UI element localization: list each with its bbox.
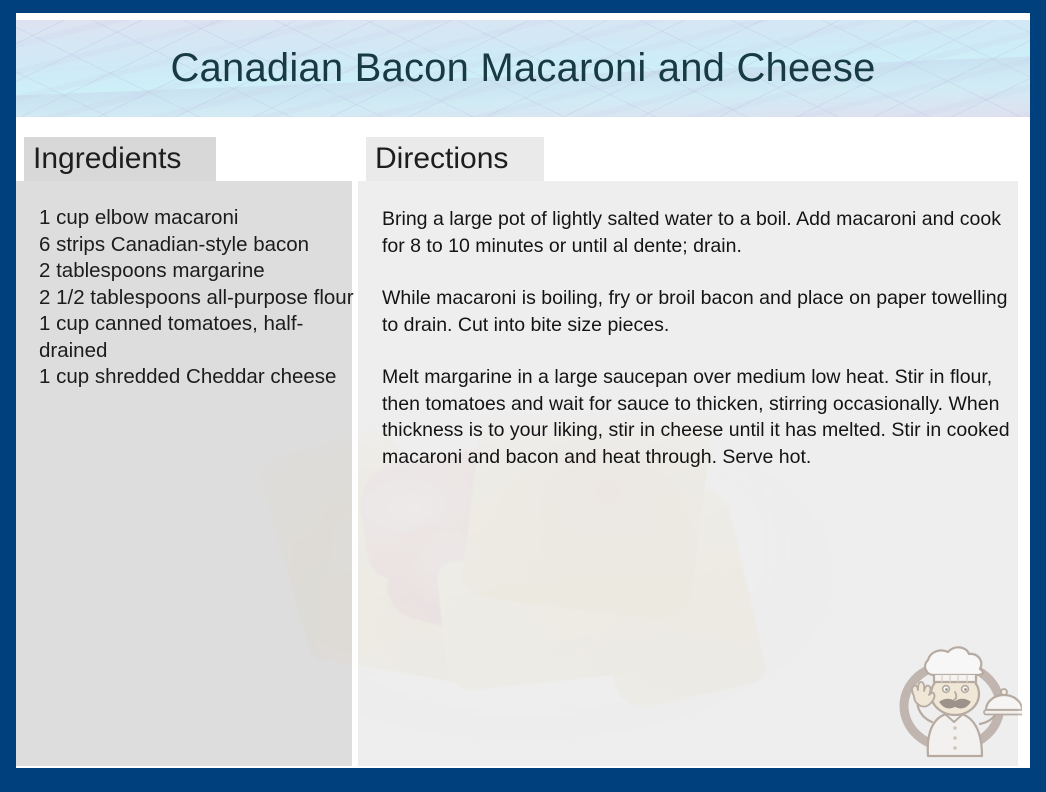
- directions-paragraph: While macaroni is boiling, fry or broil …: [382, 285, 1026, 338]
- ingredients-list: 1 cup elbow macaroni 6 strips Canadian-s…: [39, 205, 364, 391]
- list-item: 2 1/2 tablespoons all-purpose flour: [39, 285, 364, 312]
- directions-heading: Directions: [366, 137, 544, 181]
- list-item: 2 tablespoons margarine: [39, 258, 364, 285]
- ingredients-heading: Ingredients: [24, 137, 216, 181]
- slide-frame: Canadian Bacon Macaroni and Cheese Ingre…: [0, 0, 1046, 792]
- list-item: 6 strips Canadian-style bacon: [39, 232, 364, 259]
- directions-text: Bring a large pot of lightly salted wate…: [382, 206, 1026, 470]
- slide-canvas: Canadian Bacon Macaroni and Cheese Ingre…: [16, 13, 1030, 768]
- chef-mascot-icon: [890, 642, 1022, 764]
- directions-paragraph: Melt margarine in a large saucepan over …: [382, 364, 1026, 470]
- title-banner: Canadian Bacon Macaroni and Cheese: [16, 20, 1030, 117]
- page-title: Canadian Bacon Macaroni and Cheese: [16, 20, 1030, 117]
- list-item: 1 cup canned tomatoes, half-drained: [39, 311, 364, 364]
- directions-paragraph: Bring a large pot of lightly salted wate…: [382, 206, 1026, 259]
- list-item: 1 cup shredded Cheddar cheese: [39, 364, 364, 391]
- list-item: 1 cup elbow macaroni: [39, 205, 364, 232]
